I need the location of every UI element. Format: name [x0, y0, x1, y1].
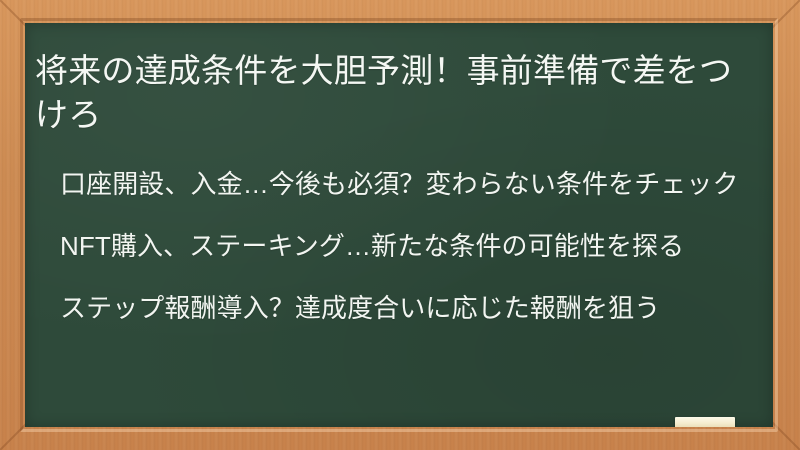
chalkboard-wooden-frame: 将来の達成条件を大胆予測！事前準備で差をつけろ 口座開設、入金…今後も必須？変わ…: [0, 0, 800, 450]
frame-miter-bottom-right: [771, 421, 800, 450]
board-title: 将来の達成条件を大胆予測！事前準備で差をつけろ: [35, 49, 757, 137]
chalkboard-slate: 将来の達成条件を大胆予測！事前準備で差をつけろ 口座開設、入金…今後も必須？変わ…: [25, 23, 773, 427]
board-points-list: 口座開設、入金…今後も必須？変わらない条件をチェック NFT購入、ステーキング……: [60, 141, 750, 327]
board-point-item: ステップ報酬導入？達成度合いに応じた報酬を狙う: [60, 291, 750, 327]
board-point-item: NFT購入、ステーキング…新たな条件の可能性を探る: [60, 229, 750, 265]
frame-miter-top-right: [771, 0, 800, 29]
chalk-stick-icon: [675, 417, 735, 427]
board-point-item: 口座開設、入金…今後も必須？変わらない条件をチェック: [60, 167, 750, 203]
